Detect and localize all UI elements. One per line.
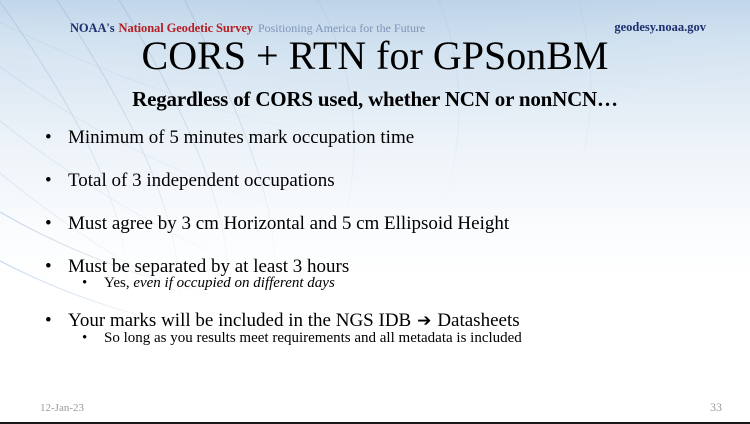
sub-bullet-text-plain: Yes, (104, 275, 130, 291)
slide-body-list: • Minimum of 5 minutes mark occupation t… (36, 126, 736, 364)
bullet-dot-icon: • (82, 329, 96, 348)
sub-bullet-item: • Yes, even if occupied on different day… (36, 274, 736, 293)
bullet-item: • Must agree by 3 cm Horizontal and 5 cm… (36, 212, 736, 235)
bullet-text: Total of 3 independent occupations (68, 170, 335, 191)
bullet-dot-icon: • (45, 126, 59, 149)
slide-subtitle: Regardless of CORS used, whether NCN or … (0, 86, 750, 112)
sub-bullet-text: Yes, even if occupied on different days (104, 275, 335, 291)
slide-title: CORS + RTN for GPSonBM (0, 33, 750, 79)
bullet-text-after-arrow: Datasheets (437, 310, 519, 331)
right-arrow-icon: ➔ (411, 311, 437, 331)
header-bar: NOAA'sNational Geodetic SurveyPositionin… (0, 9, 750, 29)
footer-date: 12-Jan-23 (40, 402, 84, 415)
bullet-text: Must agree by 3 cm Horizontal and 5 cm E… (68, 213, 509, 234)
bullet-dot-icon: • (45, 212, 59, 235)
sub-bullet-text: So long as you results meet requirements… (104, 330, 522, 346)
sub-bullet-item: • So long as you results meet requiremen… (36, 329, 736, 348)
sub-bullet-text-italic: even if occupied on different days (130, 275, 335, 291)
bullet-item: • Minimum of 5 minutes mark occupation t… (36, 126, 736, 149)
bullet-item: • Total of 3 independent occupations (36, 169, 736, 192)
bullet-dot-icon: • (82, 274, 96, 293)
slide-canvas: NOAA'sNational Geodetic SurveyPositionin… (0, 0, 750, 424)
bullet-dot-icon: • (45, 169, 59, 192)
footer-page-number: 33 (710, 400, 722, 414)
bullet-text: Minimum of 5 minutes mark occupation tim… (68, 127, 414, 148)
bullet-text: Your marks will be included in the NGS I… (68, 310, 520, 331)
bullet-text-before-arrow: Your marks will be included in the NGS I… (68, 310, 411, 331)
